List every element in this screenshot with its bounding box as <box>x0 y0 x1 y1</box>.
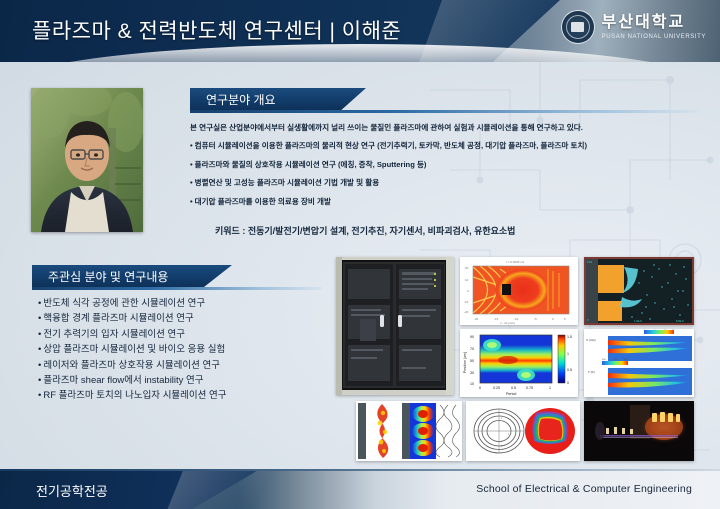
overview-section-header: 연구분야 개요 <box>190 88 700 113</box>
footer-top-line <box>0 469 720 471</box>
footer-department-english: School of Electrical & Computer Engineer… <box>476 483 692 495</box>
svg-text:1: 1 <box>549 386 551 390</box>
professor-portrait <box>31 88 143 232</box>
nozzle-plume-simulation: V (m/s) 051015 T (K) 300600900 <box>584 329 694 397</box>
interests-section-header: 주관심 분야 및 연구내용 <box>32 265 322 290</box>
overview-bullet: 병렬연산 및 고성능 플라즈마 시뮬레이션 기법 개발 및 활용 <box>190 177 700 188</box>
svg-text:8.0E-5: 8.0E-5 <box>676 319 684 323</box>
footer-department-korean: 전기공학전공 <box>36 481 108 500</box>
interests-section-rule <box>32 287 322 290</box>
keywords-line: 키워드 : 전동기/발전기/변압기 설계, 전기추진, 자기센서, 비파괴검사,… <box>215 224 515 237</box>
svg-text:1: 1 <box>567 352 569 356</box>
list-item: 상압 플라즈마 시뮬레이션 및 바이오 응용 실험 <box>38 342 227 357</box>
svg-text:90: 90 <box>470 335 474 339</box>
svg-text:0.75: 0.75 <box>526 386 533 390</box>
logo-korean-name: 부산대학교 <box>602 15 706 31</box>
university-logo: 부산대학교 PUSAN NATIONAL UNIVERSITY <box>561 10 706 44</box>
research-image-gallery: t = 0.0005 ms -20-15-10 -505 x - x0 (mm)… <box>336 257 694 462</box>
overview-lead-text: 본 연구실은 산업분야에서부터 실생활에까지 널리 쓰이는 물질인 플라즈마에 … <box>190 122 700 133</box>
logo-english-name: PUSAN NATIONAL UNIVERSITY <box>602 34 706 40</box>
tokamak-cross-section: -11 1-1 <box>466 401 580 461</box>
svg-text:0: 0 <box>567 381 569 385</box>
list-item: RF 플라즈마 토치의 나노입자 시뮬레이션 연구 <box>38 388 227 403</box>
svg-text:10: 10 <box>470 382 474 386</box>
svg-text:10: 10 <box>465 278 469 282</box>
svg-text:-20: -20 <box>464 310 469 314</box>
overview-bullet: 대기압 플라즈마를 이용한 의료용 장비 개발 <box>190 196 700 207</box>
svg-text:50: 50 <box>470 359 474 363</box>
list-item: 플라즈마 shear flow에서 instability 연구 <box>38 373 227 388</box>
svg-text:Position [um]: Position [um] <box>463 352 467 373</box>
svg-text:0.5: 0.5 <box>511 386 516 390</box>
page-title: 플라즈마 & 전력반도체 연구센터 | 이해준 <box>32 15 401 45</box>
overview-body: 본 연구실은 산업분야에서부터 실생활에까지 널리 쓰이는 물질인 플라즈마에 … <box>190 122 700 214</box>
overview-bullet: 컴퓨터 시뮬레이션을 이용한 플라즈마의 물리적 현상 연구 (전기추력기, 토… <box>190 140 700 151</box>
svg-text:0.5: 0.5 <box>567 368 572 372</box>
svg-text:0: 0 <box>479 386 481 390</box>
interests-list: 반도체 식각 공정에 관한 시뮬레이션 연구 핵융합 경계 플라즈마 시뮬레이션… <box>38 296 227 404</box>
position-period-heatmap: 907050 3010 00.250.5 0.751 Period 1.51 0… <box>460 329 578 397</box>
svg-text:1.2E-6: 1.2E-6 <box>634 319 642 323</box>
slide-header: 플라즈마 & 전력반도체 연구센터 | 이해준 부산대학교 PUSAN NATI… <box>0 0 720 62</box>
footer-sheen-decoration <box>164 469 306 509</box>
svg-text:-15: -15 <box>494 317 499 321</box>
list-item: 레이저와 플라즈마 상호작용 시뮬레이션 연구 <box>38 358 227 373</box>
svg-text:1.5: 1.5 <box>567 335 572 339</box>
overview-bullet: 플라즈마와 물질의 상호작용 시뮬레이션 연구 (에칭, 증착, Sputter… <box>190 159 700 170</box>
svg-text:0.25: 0.25 <box>493 386 500 390</box>
slide-root: 플라즈마 & 전력반도체 연구센터 | 이해준 부산대학교 PUSAN NATI… <box>0 0 720 509</box>
interests-section-tab: 주관심 분야 및 연구내용 <box>32 265 232 287</box>
server-rack-photo <box>336 257 454 395</box>
svg-text:-5: -5 <box>534 317 537 321</box>
svg-text:0.02: 0.02 <box>587 260 593 264</box>
interests-section-title: 주관심 분야 및 연구내용 <box>48 268 168 285</box>
overview-section-rule <box>190 110 700 113</box>
overview-section-title: 연구분야 개요 <box>206 91 276 108</box>
plasma-torch-photo <box>584 401 694 461</box>
svg-text:20: 20 <box>465 266 469 270</box>
particle-etch-simulation: 0.020 1.2E-68.0E-5 <box>584 257 694 325</box>
slide-footer: 전기공학전공 School of Electrical & Computer E… <box>0 469 720 509</box>
svg-text:30: 30 <box>470 371 474 375</box>
svg-text:Period: Period <box>506 392 516 396</box>
shear-instability-panels <box>356 401 462 461</box>
list-item: 전기 추력기의 입자 시뮬레이션 연구 <box>38 327 227 342</box>
university-seal-icon <box>561 10 595 44</box>
svg-text:x - x0 (mm): x - x0 (mm) <box>500 321 515 325</box>
svg-text:V (m/s): V (m/s) <box>586 338 596 342</box>
svg-text:-20: -20 <box>474 317 479 321</box>
list-item: 핵융합 경계 플라즈마 시뮬레이션 연구 <box>38 311 227 326</box>
svg-text:T (K): T (K) <box>588 370 595 374</box>
svg-text:t = 0.0005 ms: t = 0.0005 ms <box>506 260 525 264</box>
plasma-sheath-heatmap: t = 0.0005 ms -20-15-10 -505 x - x0 (mm)… <box>460 257 578 325</box>
svg-text:70: 70 <box>470 347 474 351</box>
svg-text:-10: -10 <box>464 300 469 304</box>
overview-section-tab: 연구분야 개요 <box>190 88 366 110</box>
list-item: 반도체 식각 공정에 관한 시뮬레이션 연구 <box>38 296 227 311</box>
